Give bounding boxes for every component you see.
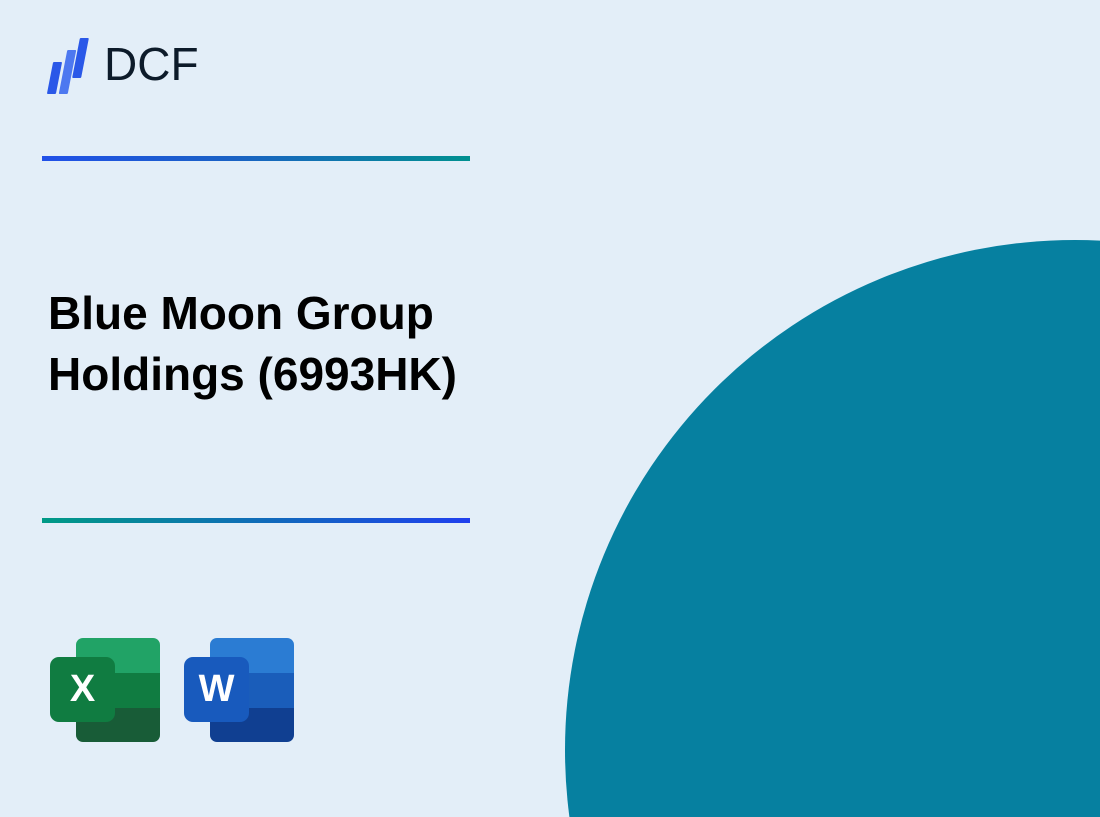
divider-bottom bbox=[42, 518, 470, 523]
download-icons: X W bbox=[50, 635, 294, 745]
page-title: Blue Moon Group Holdings (6993HK) bbox=[48, 283, 548, 404]
left-panel: DCF Blue Moon Group Holdings (6993HK) X … bbox=[0, 0, 560, 817]
excel-letter: X bbox=[50, 657, 115, 722]
dcf-logo[interactable]: DCF bbox=[48, 36, 199, 92]
word-letter: W bbox=[184, 657, 249, 722]
excel-icon[interactable]: X bbox=[50, 635, 160, 745]
bcg-matrix-graphic: BCG MATRIX High Low Market growth Market… bbox=[560, 0, 1100, 817]
bar-chart-mark-icon bbox=[48, 36, 94, 92]
word-icon[interactable]: W bbox=[184, 635, 294, 745]
divider-top bbox=[42, 156, 470, 161]
logo-text: DCF bbox=[104, 37, 199, 91]
slide-canvas: DCF Blue Moon Group Holdings (6993HK) X … bbox=[0, 0, 1100, 817]
